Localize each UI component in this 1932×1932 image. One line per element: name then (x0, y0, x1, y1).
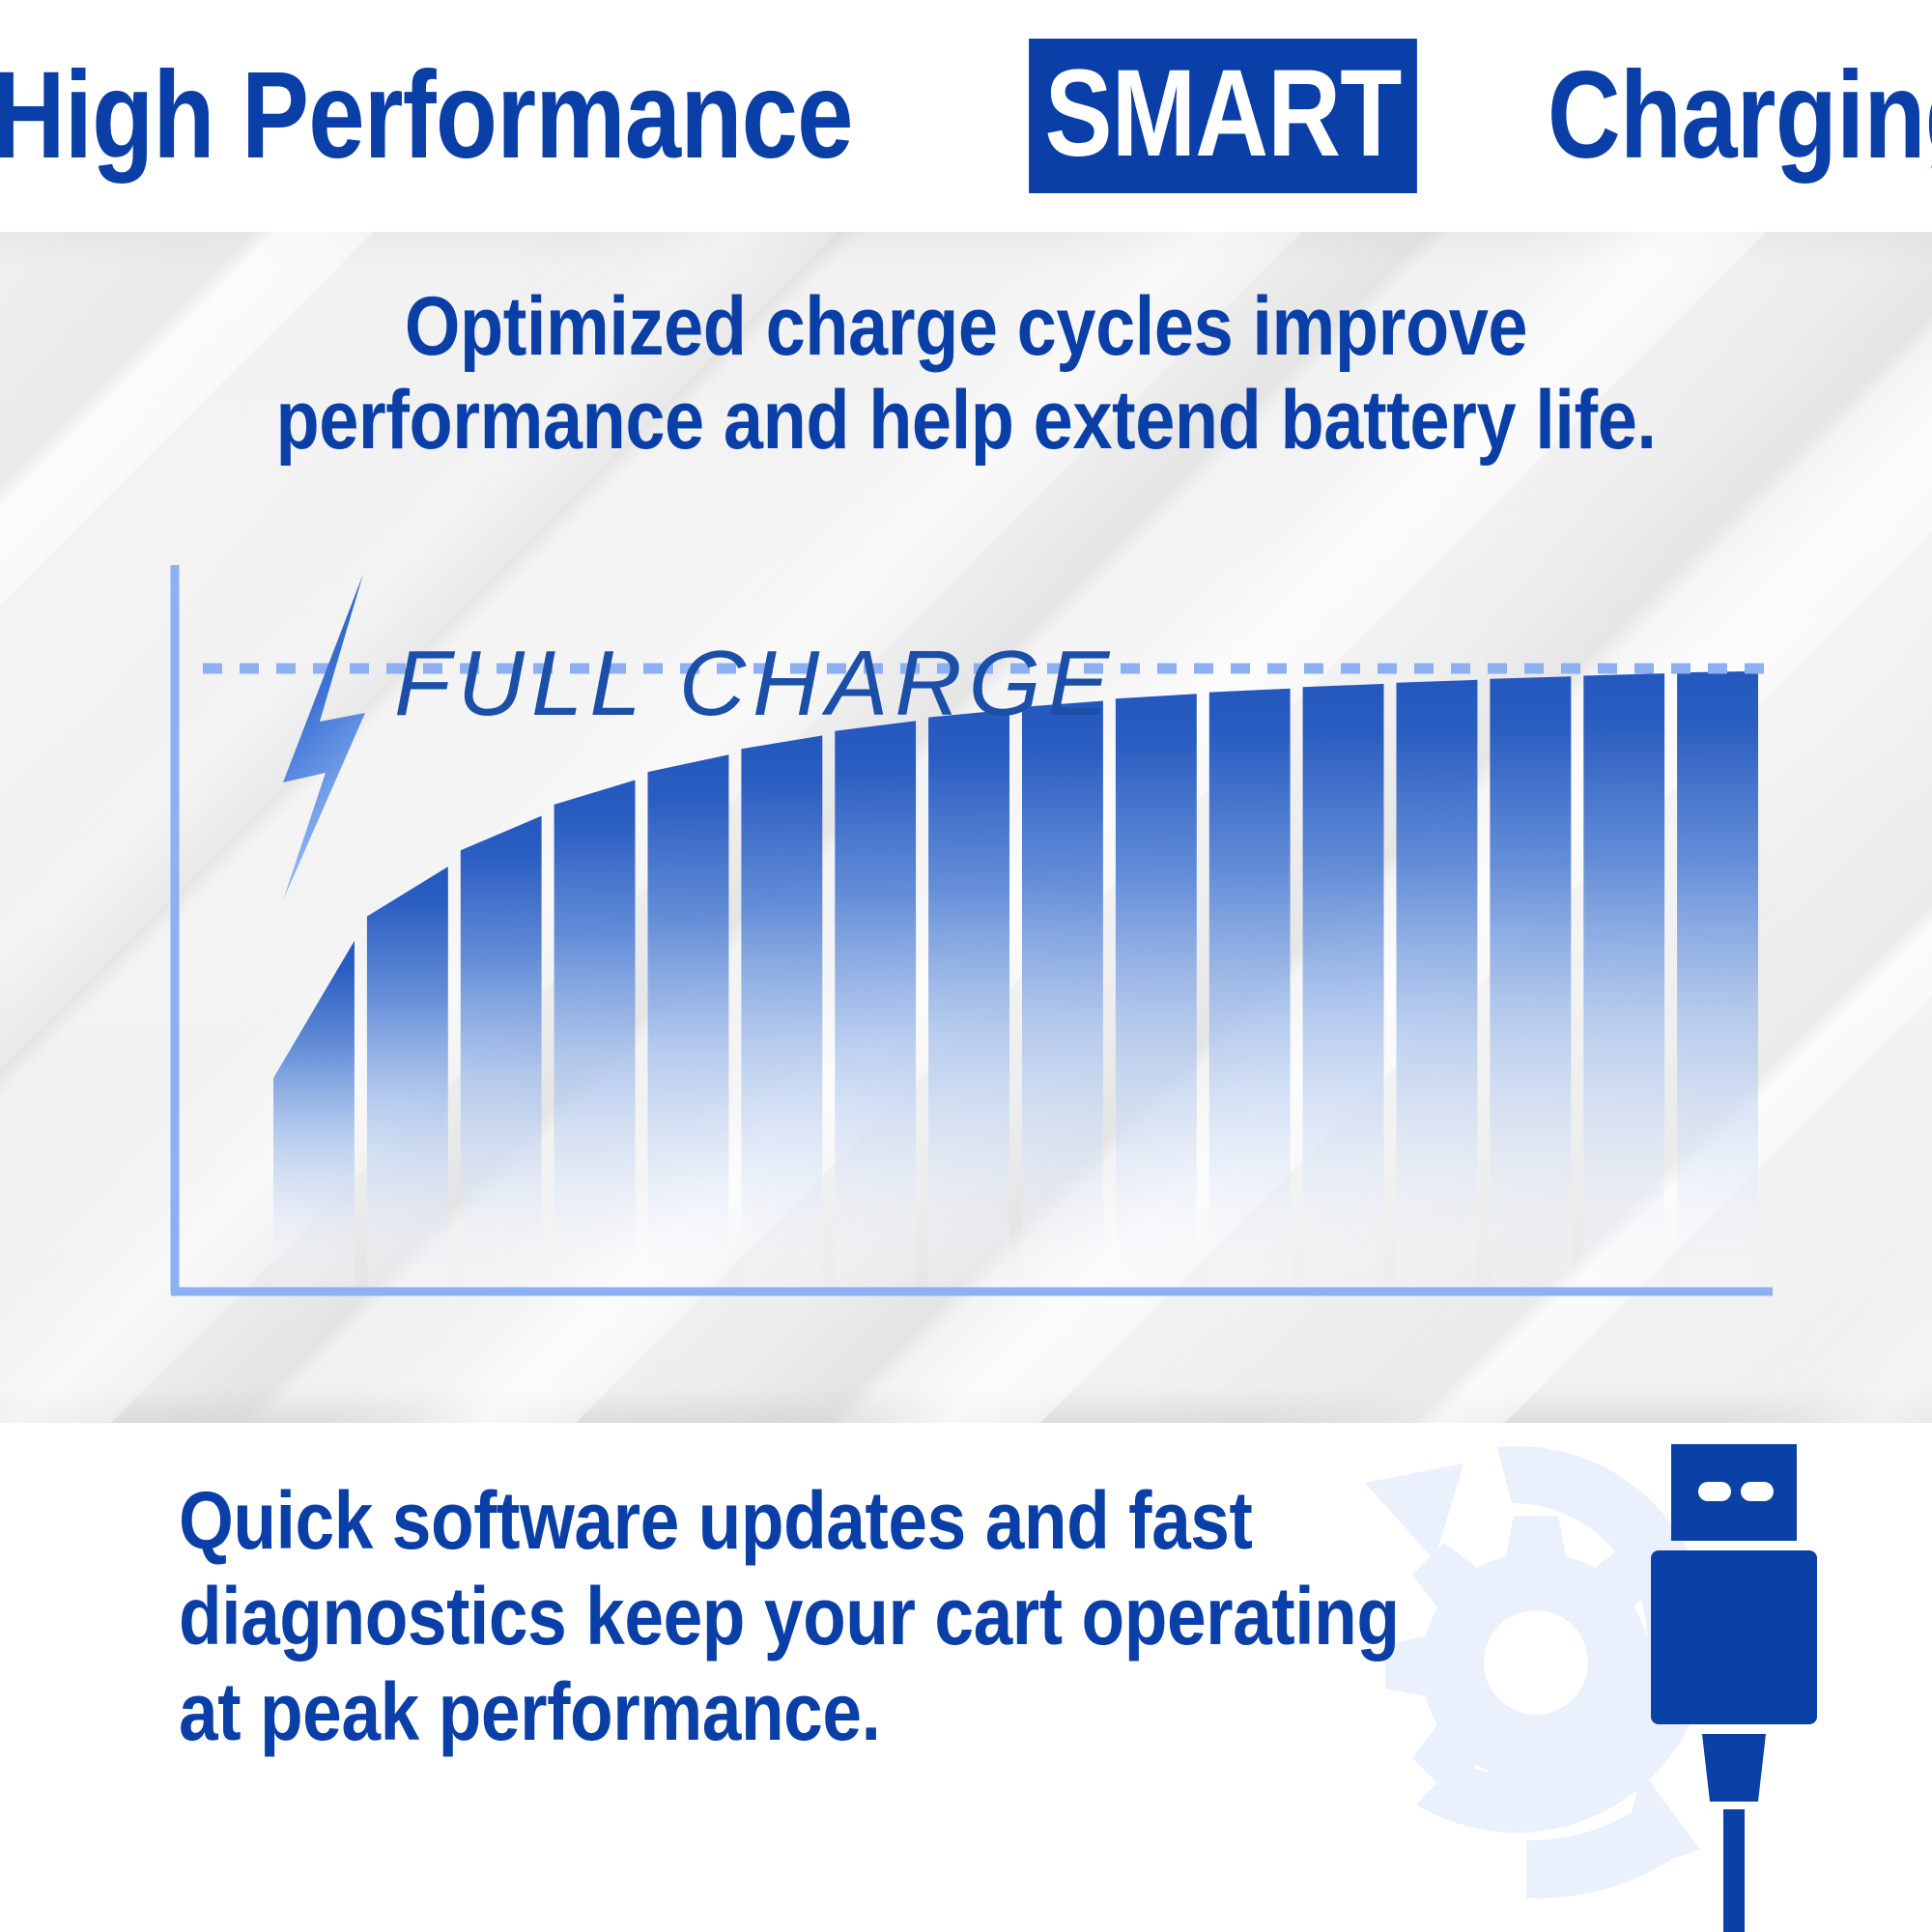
usb-plug-icon (1651, 1444, 1817, 1932)
charge-bars (273, 671, 1758, 1292)
title-part-one: High Performance (0, 54, 853, 178)
bar-5 (648, 754, 729, 1292)
footer-line-2: diagnostics keep your cart operating (179, 1569, 1171, 1664)
full-charge-label: FULL CHARGE (394, 632, 1116, 735)
bar-10 (1116, 694, 1197, 1292)
footer-line-1: Quick software updates and fast (179, 1473, 1171, 1569)
smart-badge: SMART (1029, 39, 1417, 193)
bar-1 (273, 941, 355, 1292)
smart-badge-label: SMART (1045, 52, 1402, 176)
bar-12 (1303, 684, 1384, 1292)
bar-15 (1583, 673, 1664, 1292)
bar-14 (1490, 676, 1571, 1292)
bar-2 (367, 867, 448, 1292)
title-space-2 (1469, 54, 1496, 178)
charge-curve-chart: FULL CHARGE (0, 232, 1932, 1423)
bar-9 (1022, 701, 1103, 1293)
title-space (951, 54, 978, 178)
footer-line-3: at peak performance. (179, 1664, 1171, 1760)
bar-4 (554, 781, 636, 1293)
header-band: High Performance SMART Charging (0, 0, 1932, 232)
footer-band: Quick software updates and fast diagnost… (0, 1423, 1932, 1932)
bar-11 (1209, 689, 1291, 1292)
bar-3 (461, 816, 542, 1292)
bar-8 (928, 710, 1009, 1292)
footer-artwork (1236, 1423, 1932, 1932)
bar-6 (741, 735, 822, 1292)
infographic-canvas: High Performance SMART Charging Optimize… (0, 0, 1932, 1932)
bar-13 (1397, 680, 1478, 1292)
gear-icon (1385, 1516, 1687, 1817)
lightning-bolt-icon (283, 574, 365, 900)
bar-7 (835, 721, 916, 1292)
page-title: High Performance SMART Charging (0, 0, 1932, 232)
bar-16 (1677, 671, 1758, 1292)
footer-copy: Quick software updates and fast diagnost… (179, 1473, 1319, 1760)
title-part-two: Charging (1548, 54, 1932, 178)
